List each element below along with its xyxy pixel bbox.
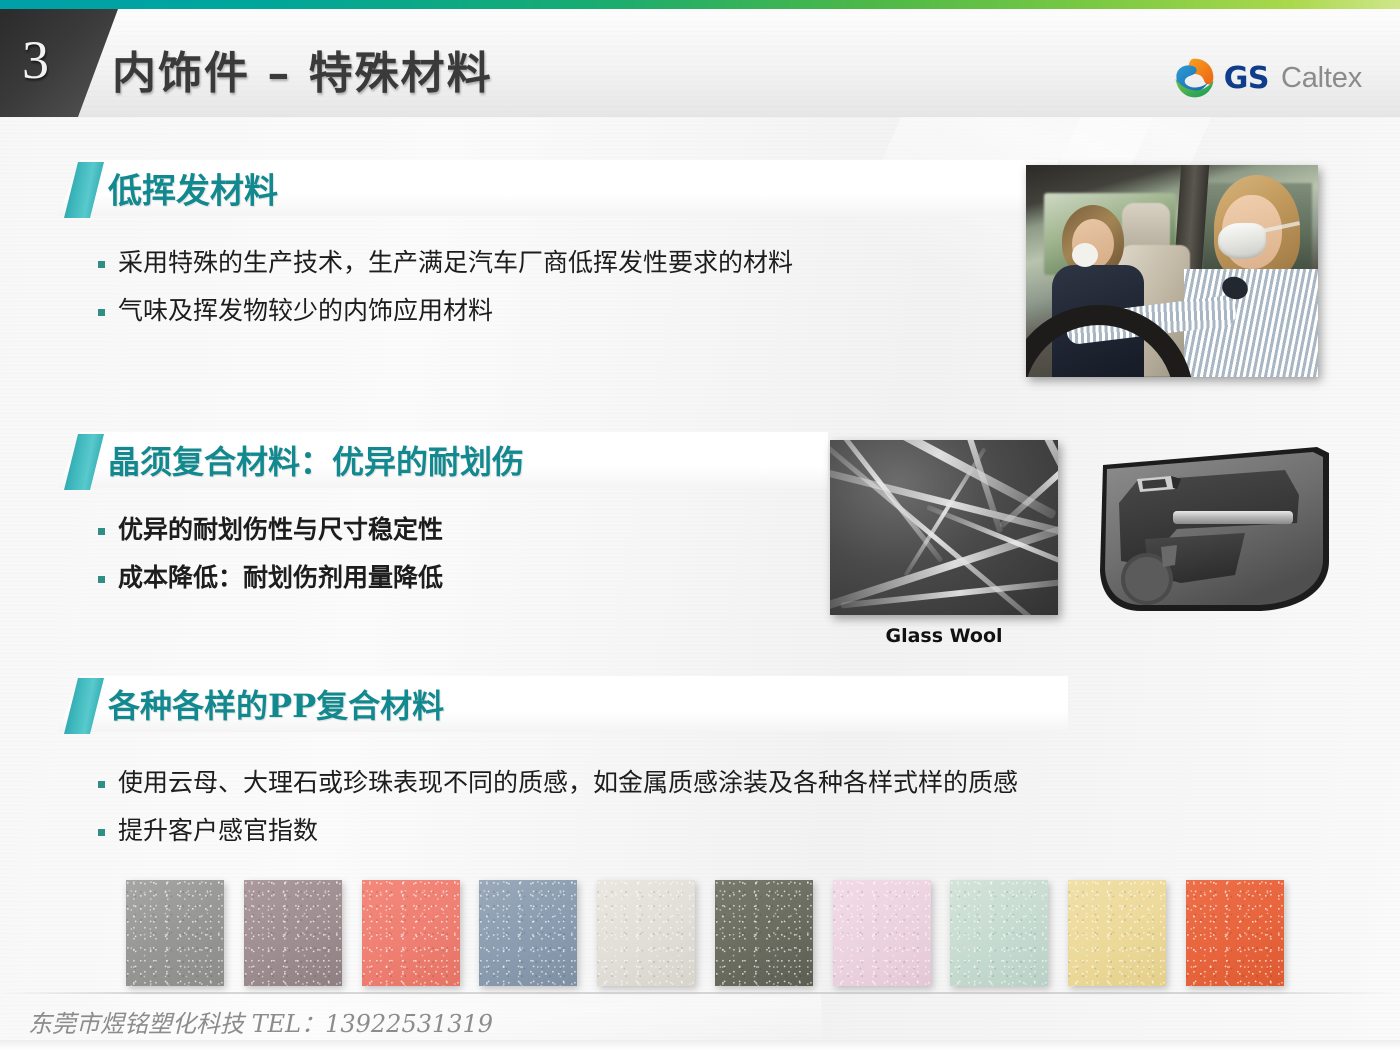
bullet-square-icon [98, 261, 105, 268]
list-item: 气味及挥发物较少的内饰应用材料 [98, 293, 793, 329]
bullet-square-icon [98, 576, 105, 583]
list-item: 优异的耐划伤性与尺寸稳定性 [98, 512, 443, 548]
slide-number: 3 [22, 33, 49, 87]
speaker-grille [1125, 557, 1169, 601]
slide-header: 3 内饰件 – 特殊材料 GS [0, 9, 1400, 121]
bullet-text: 优异的耐划伤性与尺寸稳定性 [118, 512, 443, 548]
list-item: 采用特殊的生产技术，生产满足汽车厂商低挥发性要求的材料 [98, 245, 793, 281]
gs-caltex-swirl-icon [1172, 56, 1216, 100]
door-pull-chrome [1173, 511, 1293, 524]
photo-layer-face-mask [1218, 223, 1266, 259]
section-heading-text: 低挥发材料 [108, 164, 278, 213]
bullet-square-icon [98, 309, 105, 316]
presentation-slide: 3 内饰件 – 特殊材料 GS [0, 0, 1400, 1050]
photo-layer-headrest [1122, 203, 1170, 249]
list-item: 使用云母、大理石或珍珠表现不同的质感，如金属质感涂装及各种各样式样的质感 [98, 765, 1018, 801]
material-color-swatch-row [126, 880, 1284, 986]
swatch-pink [833, 880, 931, 986]
swatch-slate-blue [479, 880, 577, 986]
photo-layer-tissue [1072, 243, 1098, 267]
list-item: 成本降低：耐划伤剂用量降低 [98, 560, 443, 596]
list-item: 提升客户感官指数 [98, 813, 1018, 849]
brand-gs-text: GS [1224, 61, 1269, 96]
page-title: 内饰件 – 特殊材料 [112, 37, 493, 101]
section-heading-pp-composites: 各种各样的PP复合材料 [58, 676, 1068, 732]
bullet-square-icon [98, 528, 105, 535]
glass-wool-sem-photo [830, 440, 1058, 615]
glass-wool-caption: Glass Wool [830, 625, 1058, 647]
section-heading-text: 晶须复合材料：优异的耐划伤 [108, 437, 524, 483]
section-heading-low-voc: 低挥发材料 [58, 160, 1058, 216]
bullet-text: 使用云母、大理石或珍珠表现不同的质感，如金属质感涂装及各种各样式样的质感 [118, 765, 1018, 801]
swatch-mint-green [950, 880, 1048, 986]
bullet-list-whisker-composite: 优异的耐划伤性与尺寸稳定性 成本降低：耐划伤剂用量降低 [98, 512, 443, 609]
bullet-list-pp-composites: 使用云母、大理石或珍珠表现不同的质感，如金属质感涂装及各种各样式样的质感 提升客… [98, 765, 1018, 862]
swatch-cream-white [597, 880, 695, 986]
bullet-square-icon [98, 781, 105, 788]
top-gradient-rule [0, 0, 1400, 9]
car-door-trim-panel-illustration [1085, 443, 1337, 621]
section-heading-whisker-composite: 晶须复合材料：优异的耐划伤 [58, 432, 828, 488]
swatch-coral [362, 880, 460, 986]
gs-caltex-logo: GS Caltex [1172, 56, 1362, 100]
swatch-orange-red [1186, 880, 1284, 986]
bullet-text: 提升客户感官指数 [118, 813, 318, 849]
bullet-text: 成本降低：耐划伤剂用量降低 [118, 560, 443, 596]
footer-contact-text: 东莞市煜铭塑化科技 TEL：13922531319 [28, 1004, 493, 1039]
swatch-mauve [244, 880, 342, 986]
bullet-list-low-voc: 采用特殊的生产技术，生产满足汽车厂商低挥发性要求的材料 气味及挥发物较少的内饰应… [98, 245, 793, 342]
bullet-text: 采用特殊的生产技术，生产满足汽车厂商低挥发性要求的材料 [118, 245, 793, 281]
car-interior-people-masks-photo [1026, 165, 1318, 377]
bullet-square-icon [98, 829, 105, 836]
swatch-dark-olive [715, 880, 813, 986]
brand-caltex-text: Caltex [1281, 62, 1362, 95]
door-switch-panel [1161, 545, 1177, 567]
footer-band [0, 1040, 1400, 1050]
section-heading-text: 各种各样的PP复合材料 [108, 681, 444, 727]
swatch-gray-metallic [126, 880, 224, 986]
footer-divider [0, 992, 1400, 994]
bullet-text: 气味及挥发物较少的内饰应用材料 [118, 293, 493, 329]
swatch-pale-yellow [1068, 880, 1166, 986]
